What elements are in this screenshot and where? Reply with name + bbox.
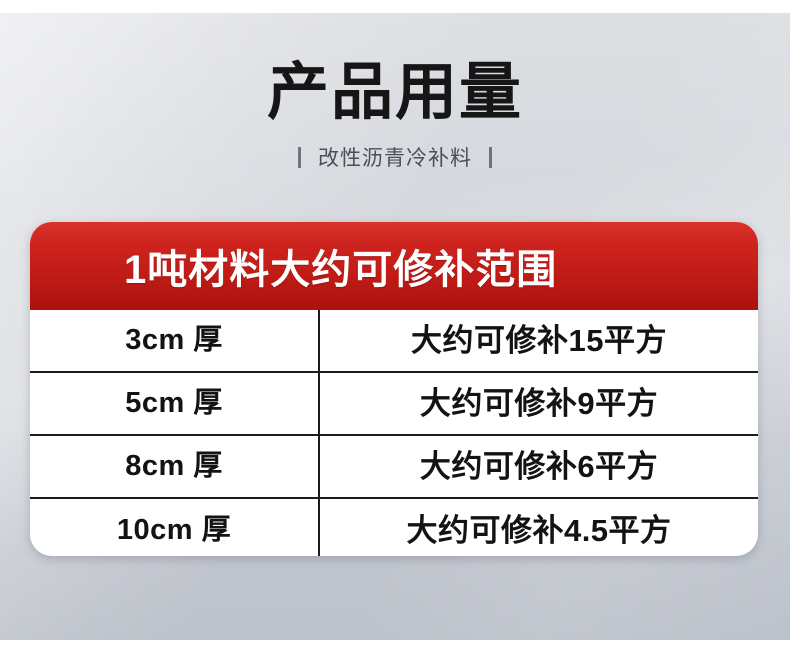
table-cell-thickness: 3cm 厚 [30,310,320,371]
page-subtitle: 改性沥青冷补料 [318,142,472,172]
usage-table-card: 1吨材料大约可修补范围 3cm 厚 大约可修补15平方 5cm 厚 大约可修补9… [30,222,758,556]
table-cell-coverage: 大约可修补4.5平方 [320,499,758,556]
table-row: 3cm 厚 大约可修补15平方 [30,310,758,371]
table-cell-coverage: 大约可修补6平方 [320,436,758,497]
table-cell-thickness: 10cm 厚 [30,499,320,556]
table-cell-thickness: 5cm 厚 [30,373,320,434]
table-header-title: 1吨材料大约可修补范围 [124,237,557,295]
table-row: 10cm 厚 大约可修补4.5平方 [30,497,758,556]
table-header-banner: 1吨材料大约可修补范围 [30,222,758,310]
subtitle-left-bar-icon [298,147,301,168]
product-usage-infographic: 产品用量 改性沥青冷补料 1吨材料大约可修补范围 3cm 厚 大约可修补15平方… [0,0,790,651]
table-cell-coverage: 大约可修补9平方 [320,373,758,434]
subtitle-right-bar-icon [489,147,492,168]
top-white-margin [0,0,790,13]
table-cell-coverage: 大约可修补15平方 [320,310,758,371]
table-row: 5cm 厚 大约可修补9平方 [30,371,758,434]
bottom-white-margin [0,640,790,651]
page-subtitle-row: 改性沥青冷补料 [0,142,790,172]
table-cell-thickness: 8cm 厚 [30,436,320,497]
table-row: 8cm 厚 大约可修补6平方 [30,434,758,497]
heading-block: 产品用量 改性沥青冷补料 [0,62,790,172]
page-title: 产品用量 [0,62,790,124]
table-body: 3cm 厚 大约可修补15平方 5cm 厚 大约可修补9平方 8cm 厚 大约可… [30,310,758,556]
